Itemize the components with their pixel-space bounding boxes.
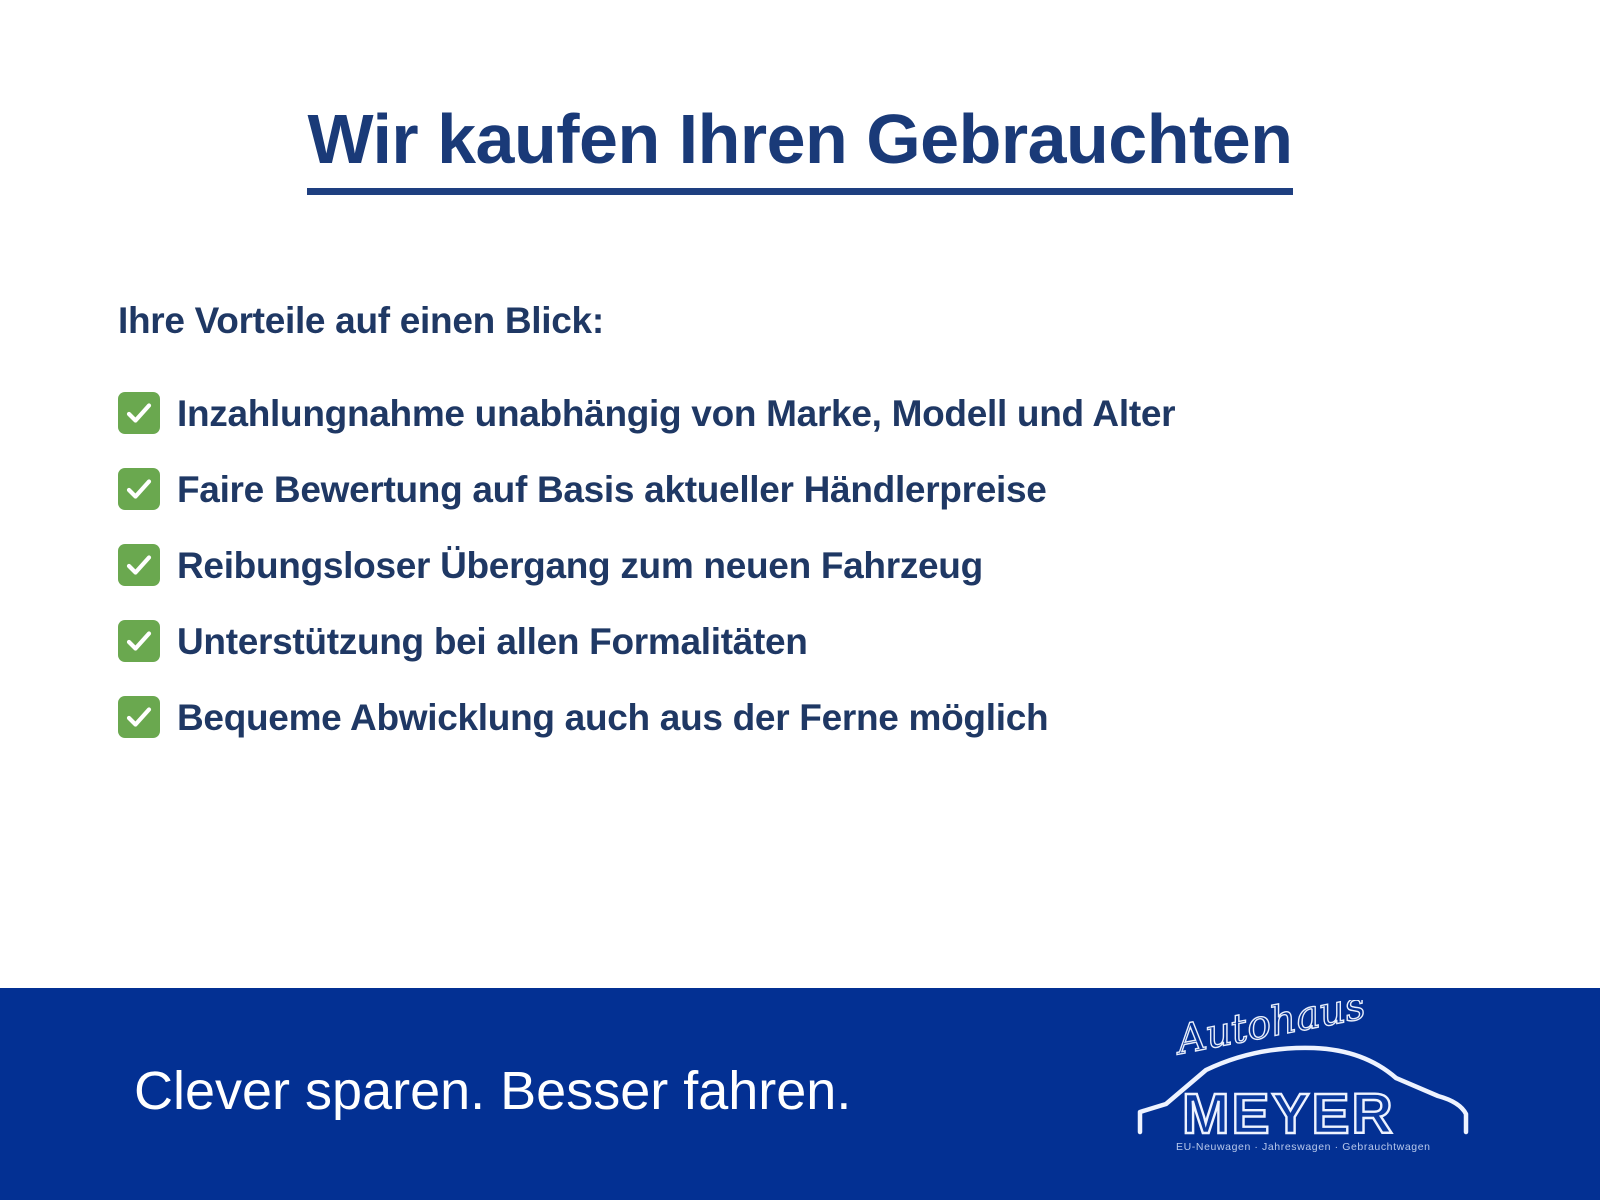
list-item: Inzahlungnahme unabhängig von Marke, Mod… (118, 375, 1538, 451)
list-item: Unterstützung bei allen Formalitäten (118, 603, 1538, 679)
advertisement-page: Wir kaufen Ihren Gebrauchten Ihre Vortei… (0, 0, 1600, 1200)
check-square-icon (118, 696, 160, 738)
page-title: Wir kaufen Ihren Gebrauchten (307, 104, 1292, 195)
footer-banner: Clever sparen. Besser fahren. Autohaus M… (0, 988, 1600, 1200)
page-title-block: Wir kaufen Ihren Gebrauchten (0, 104, 1600, 195)
list-item-label: Inzahlungnahme unabhängig von Marke, Mod… (177, 395, 1175, 432)
check-square-icon (118, 544, 160, 586)
benefits-intro-text: Ihre Vorteile auf einen Blick: (118, 300, 604, 342)
check-square-icon (118, 468, 160, 510)
logo-wordmark-text: MEYER (1182, 1082, 1395, 1146)
logo-script-text: Autohaus (1169, 1000, 1369, 1065)
logo-subtitle-text: EU-Neuwagen · Jahreswagen · Gebrauchtwag… (1176, 1141, 1431, 1153)
benefits-list: Inzahlungnahme unabhängig von Marke, Mod… (118, 375, 1538, 755)
list-item: Reibungsloser Übergang zum neuen Fahrzeu… (118, 527, 1538, 603)
list-item: Faire Bewertung auf Basis aktueller Händ… (118, 451, 1538, 527)
check-square-icon (118, 620, 160, 662)
autohaus-meyer-logo: Autohaus MEYER EU-Neuwagen · Jahreswagen… (1128, 1000, 1478, 1160)
list-item-label: Reibungsloser Übergang zum neuen Fahrzeu… (177, 547, 983, 584)
list-item-label: Bequeme Abwicklung auch aus der Ferne mö… (177, 699, 1048, 736)
check-square-icon (118, 392, 160, 434)
list-item: Bequeme Abwicklung auch aus der Ferne mö… (118, 679, 1538, 755)
footer-tagline: Clever sparen. Besser fahren. (134, 1060, 851, 1122)
list-item-label: Unterstützung bei allen Formalitäten (177, 623, 808, 660)
list-item-label: Faire Bewertung auf Basis aktueller Händ… (177, 471, 1047, 508)
